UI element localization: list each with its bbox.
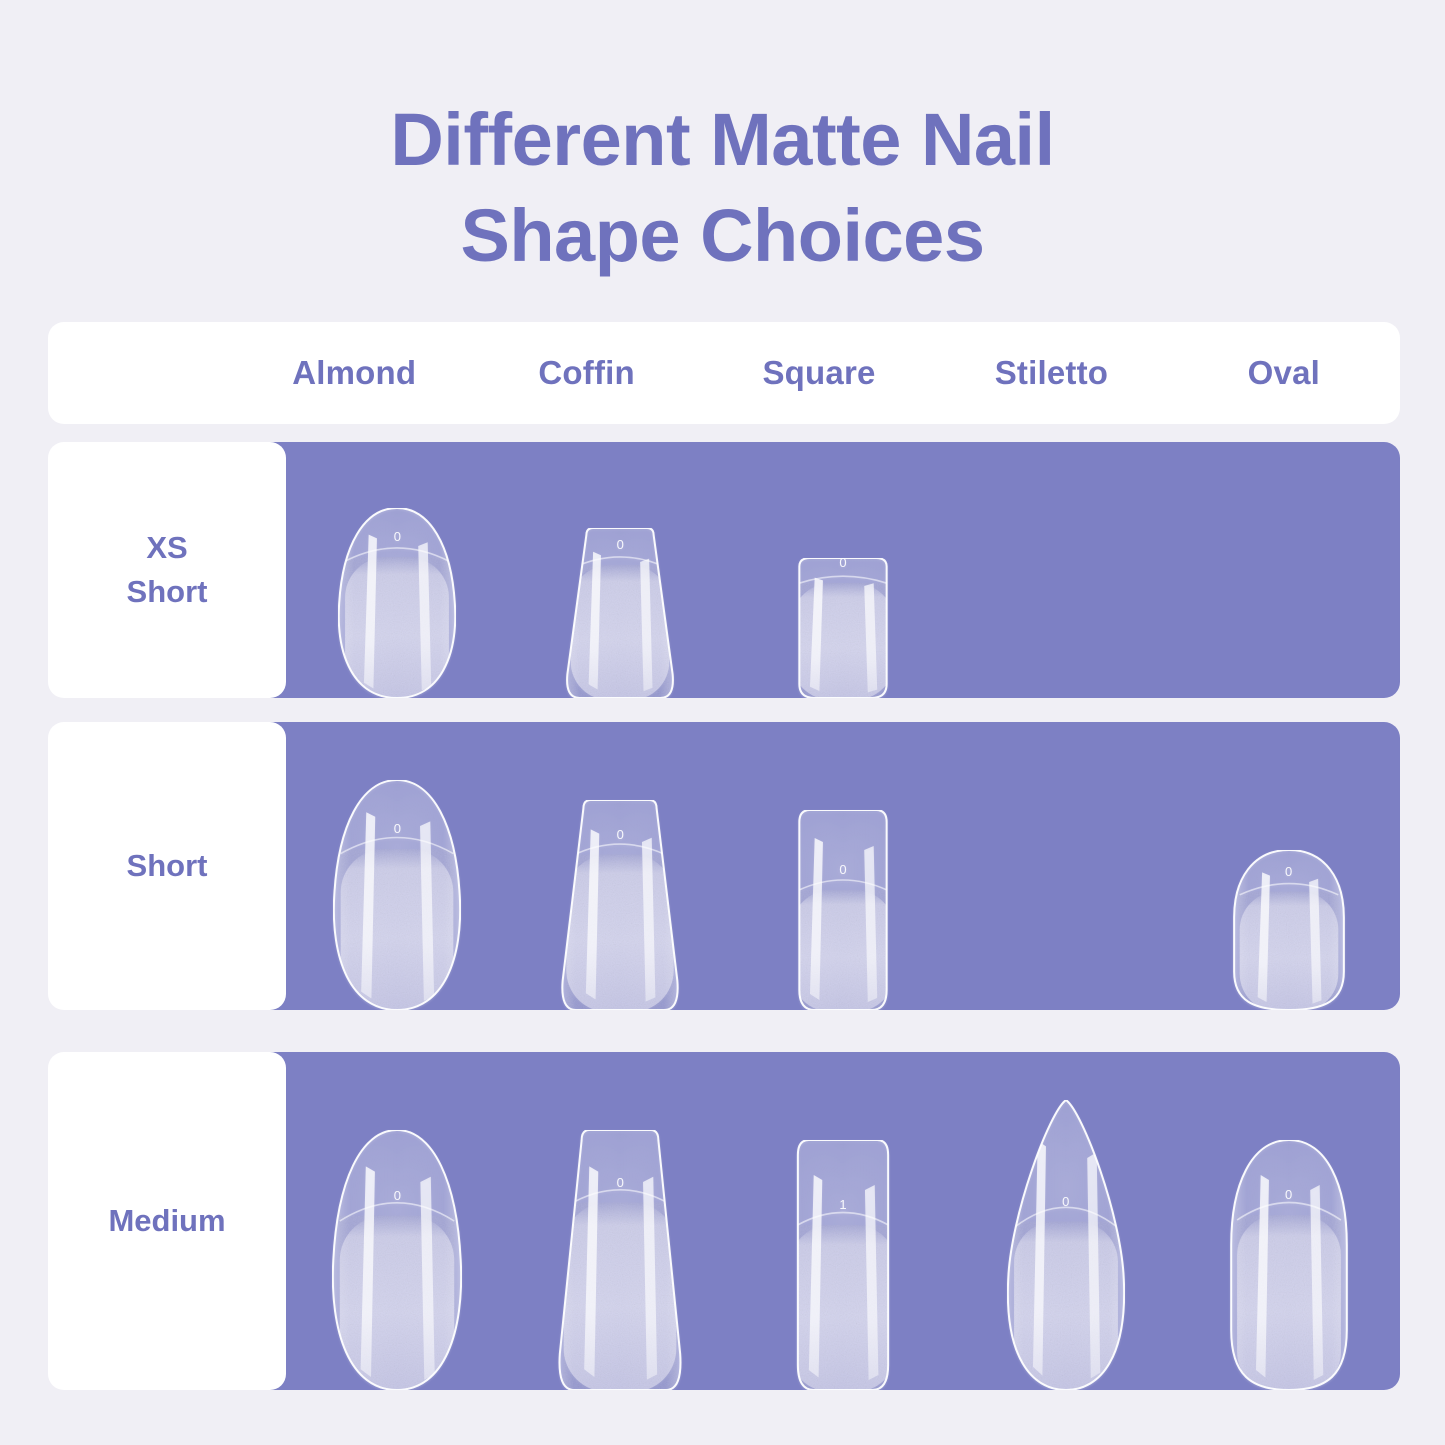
- nail-cell-oval: 0: [1177, 1052, 1400, 1390]
- column-header-square: Square: [703, 354, 935, 392]
- nail-tip-coffin: 0: [556, 1130, 684, 1390]
- nail-cell-almond: 0: [286, 1052, 509, 1390]
- nail-tip-almond: 0: [333, 780, 461, 1010]
- row-label-card-medium: Medium: [48, 1052, 286, 1390]
- row-cells-medium: 0: [286, 1052, 1400, 1390]
- row-panel-xs-short: 0: [238, 442, 1400, 698]
- row-label-card-short: Short: [48, 722, 286, 1010]
- row-panel-short: 0: [238, 722, 1400, 1010]
- column-header-oval: Oval: [1168, 354, 1400, 392]
- row-label-medium: Medium: [108, 1199, 225, 1243]
- nail-cell-stiletto: 0: [954, 1052, 1177, 1390]
- column-header-stiletto: Stiletto: [935, 354, 1167, 392]
- nail-tip-square: 1: [782, 1140, 904, 1390]
- nail-cell-oval: [1177, 442, 1400, 698]
- row-cells-xs-short: 0: [286, 442, 1400, 698]
- nail-tip-stiletto: 0: [1007, 1100, 1125, 1390]
- page-title: Different Matte Nail Shape Choices: [0, 92, 1445, 284]
- nail-tip-square: 0: [784, 558, 902, 698]
- row-label-short: Short: [127, 844, 208, 888]
- size-row-short: 0: [48, 722, 1400, 1010]
- nail-cell-almond: 0: [286, 722, 509, 1010]
- row-label-card-xs-short: XS Short: [48, 442, 286, 698]
- nail-cell-oval: 0: [1177, 722, 1400, 1010]
- column-header-coffin: Coffin: [470, 354, 702, 392]
- row-cells-short: 0: [286, 722, 1400, 1010]
- nail-tip-oval: 0: [1230, 1140, 1348, 1390]
- nail-tip-coffin: 0: [559, 800, 681, 1010]
- nail-tip-almond: 0: [338, 508, 456, 698]
- nail-shape-chart-page: Different Matte Nail Shape Choices Almon…: [0, 0, 1445, 1445]
- nail-cell-coffin: 0: [509, 722, 732, 1010]
- nail-tip-oval: 0: [1233, 850, 1345, 1010]
- nail-cell-almond: 0: [286, 442, 509, 698]
- page-title-line-2: Shape Choices: [0, 188, 1445, 284]
- nail-cell-square: 0: [732, 442, 955, 698]
- row-label-xs-short: XS Short: [127, 526, 208, 614]
- size-row-medium: 0: [48, 1052, 1400, 1390]
- nail-tip-almond: 0: [332, 1130, 462, 1390]
- nail-cell-coffin: 0: [509, 442, 732, 698]
- nail-cell-stiletto: [954, 442, 1177, 698]
- nail-cell-stiletto: [954, 722, 1177, 1010]
- nail-tip-square: 0: [784, 810, 902, 1010]
- nail-cell-square: 0: [732, 722, 955, 1010]
- column-header-bar: Almond Coffin Square Stiletto Oval: [48, 322, 1400, 424]
- nail-cell-coffin: 0: [509, 1052, 732, 1390]
- size-row-xs-short: 0: [48, 442, 1400, 698]
- nail-cell-square: 1: [732, 1052, 955, 1390]
- nail-tip-coffin: 0: [564, 528, 676, 698]
- page-title-line-1: Different Matte Nail: [0, 92, 1445, 188]
- column-header-almond: Almond: [238, 354, 470, 392]
- row-panel-medium: 0: [238, 1052, 1400, 1390]
